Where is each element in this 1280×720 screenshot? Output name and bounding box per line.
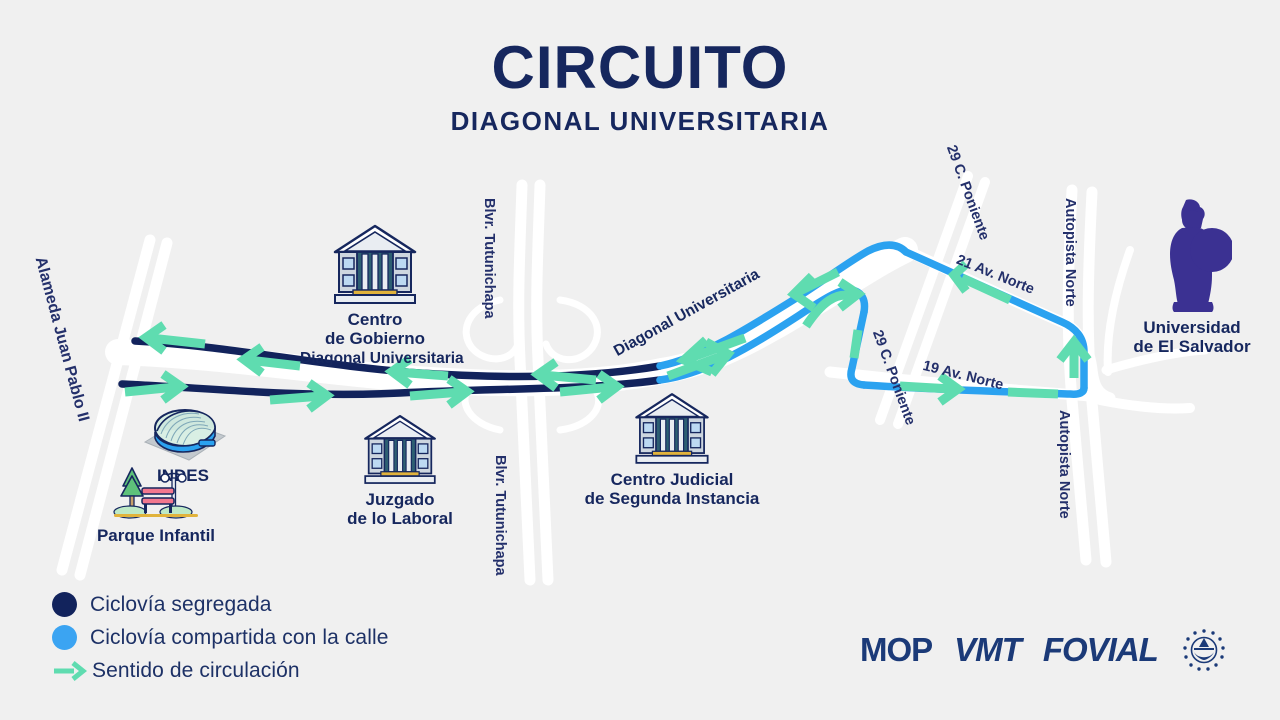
legend-label: Sentido de circulación [92, 659, 300, 683]
arrow-29-c-south [854, 330, 858, 358]
logo-vmt: VMT [954, 631, 1021, 669]
logo-fovial: FOVIAL [1043, 631, 1158, 669]
escudo-el-salvador-icon [1180, 626, 1228, 674]
poi-centro-de-gobierno[interactable]: Centro de Gobierno [300, 222, 450, 348]
poi-label-line1: Juzgado [366, 490, 435, 509]
legend-item-sentido-de-circulacion: Sentido de circulación [52, 654, 389, 687]
government-building-icon [631, 390, 713, 468]
logo-mop: MOP [860, 631, 932, 669]
poi-label-line2: de El Salvador [1133, 337, 1250, 356]
poi-juzgado-de-lo-laboral[interactable]: Juzgado de lo Laboral [330, 412, 470, 528]
map-canvas: CIRCUITO DIAGONAL UNIVERSITARIA Alameda … [0, 0, 1280, 720]
poi-label-line1: Centro Judicial [611, 470, 734, 489]
street-label-blvr-tutunichapa-norte: Blvr. Tutunichapa [481, 198, 497, 319]
legend-label: Ciclovía compartida con la calle [90, 626, 389, 650]
arrow-east-1 [125, 374, 181, 400]
poi-universidad-de-el-salvador[interactable]: Universidad de El Salvador [1112, 198, 1272, 356]
government-building-icon [360, 412, 440, 488]
page-subtitle: DIAGONAL UNIVERSITARIA [0, 108, 1280, 134]
poi-label-line1: Parque Infantil [97, 526, 215, 545]
poi-parque-infantil[interactable]: Parque Infantil [86, 462, 226, 545]
legend: Ciclovía segregada Ciclovía compartida c… [52, 588, 389, 687]
street-label-autopista-norte-superior: Autopista Norte [1062, 198, 1078, 307]
direction-arrow-icon [52, 659, 88, 683]
poi-label-line1: Universidad [1143, 318, 1240, 337]
arrow-east-2 [270, 383, 327, 409]
street-label-blvr-tutunichapa-sur: Blvr. Tutunichapa [492, 455, 508, 576]
government-building-icon [329, 222, 421, 308]
legend-item-ciclovia-compartida: Ciclovía compartida con la calle [52, 621, 389, 654]
arrow-19-av-east-2 [1008, 392, 1058, 394]
legend-dot-compartida [52, 625, 77, 650]
poi-label-line2: de Segunda Instancia [585, 489, 760, 508]
poi-centro-judicial[interactable]: Centro Judicial de Segunda Instancia [582, 390, 762, 508]
logo-bar: MOP VMT FOVIAL [860, 626, 1228, 674]
route-label-diagonal-universitaria-oeste: Diagonal Universitaria [300, 350, 464, 368]
legend-item-ciclovia-segregada: Ciclovía segregada [52, 588, 389, 621]
legend-label: Ciclovía segregada [90, 593, 272, 617]
street-label-autopista-norte-inferior: Autopista Norte [1056, 410, 1072, 519]
stadium-icon [137, 398, 229, 464]
minerva-statue-icon [1152, 198, 1232, 316]
page-title: CIRCUITO [0, 38, 1280, 98]
poi-label-line1: Centro [348, 310, 403, 329]
arrow-junction-up [1060, 342, 1088, 378]
legend-dot-segregada [52, 592, 77, 617]
arrow-west-2 [244, 347, 300, 373]
poi-label-line2: de Gobierno [325, 329, 425, 348]
poi-label-line2: de lo Laboral [347, 509, 453, 528]
arrow-east-3 [410, 379, 467, 405]
arrow-west-1 [146, 325, 205, 351]
arrow-west-4 [538, 362, 596, 388]
park-icon [110, 462, 202, 524]
